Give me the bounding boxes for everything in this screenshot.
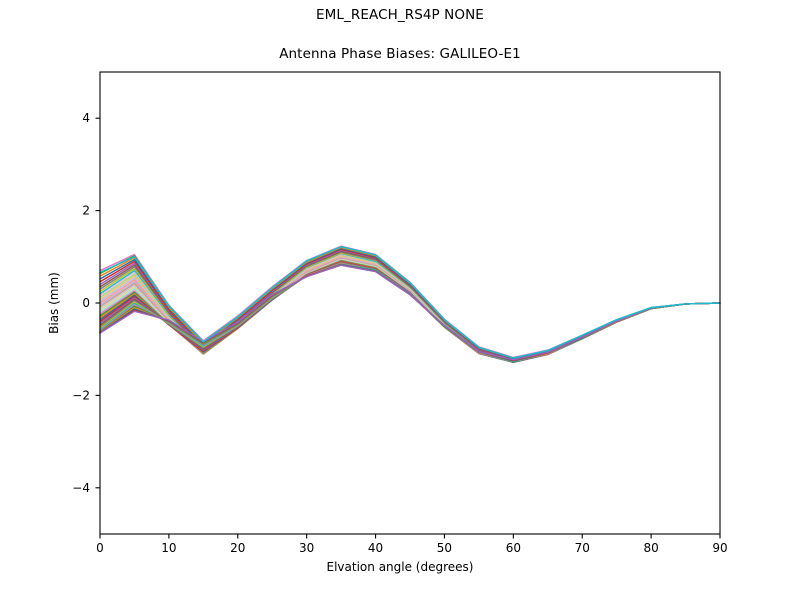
data-series-line: [100, 262, 720, 362]
y-tick-label: −2: [72, 388, 90, 402]
x-tick-label: 40: [368, 541, 383, 555]
x-tick-label: 30: [299, 541, 314, 555]
x-tick-label: 70: [575, 541, 590, 555]
series-layer: [100, 246, 720, 362]
y-tick-label: −4: [72, 481, 90, 495]
x-tick-label: 60: [506, 541, 521, 555]
x-tick-label: 80: [643, 541, 658, 555]
data-series-line: [100, 259, 720, 362]
axes-frame: [100, 72, 720, 534]
data-series-line: [100, 261, 720, 363]
data-series-line: [100, 264, 720, 362]
y-tick-label: 2: [82, 204, 90, 218]
x-tick-label: 0: [96, 541, 104, 555]
x-tick-label: 20: [230, 541, 245, 555]
data-series-line: [100, 264, 720, 361]
data-series-line: [100, 262, 720, 362]
y-tick-label: 0: [82, 296, 90, 310]
data-series-line: [100, 260, 720, 363]
data-series-line: [100, 259, 720, 362]
axes-layer: [100, 72, 720, 534]
data-series-line: [100, 263, 720, 361]
data-series-line: [100, 261, 720, 362]
tick-layer: −4−20240102030405060708090: [72, 111, 727, 555]
data-series-line: [100, 261, 720, 362]
y-tick-label: 4: [82, 111, 90, 125]
data-series-line: [100, 263, 720, 361]
data-series-line: [100, 260, 720, 362]
figure-canvas: EML_REACH_RS4P NONE Antenna Phase Biases…: [0, 0, 800, 600]
y-axis-label: Bias (mm): [47, 183, 61, 423]
x-tick-label: 10: [161, 541, 176, 555]
x-tick-label: 90: [712, 541, 727, 555]
data-series-line: [100, 264, 720, 361]
data-series-line: [100, 258, 720, 361]
data-series-line: [100, 265, 720, 361]
line-chart-plot: −4−20240102030405060708090: [0, 0, 800, 600]
x-axis-label: Elvation angle (degrees): [0, 560, 800, 574]
data-series-line: [100, 262, 720, 362]
data-series-line: [100, 263, 720, 362]
x-tick-label: 50: [437, 541, 452, 555]
data-series-line: [100, 265, 720, 361]
